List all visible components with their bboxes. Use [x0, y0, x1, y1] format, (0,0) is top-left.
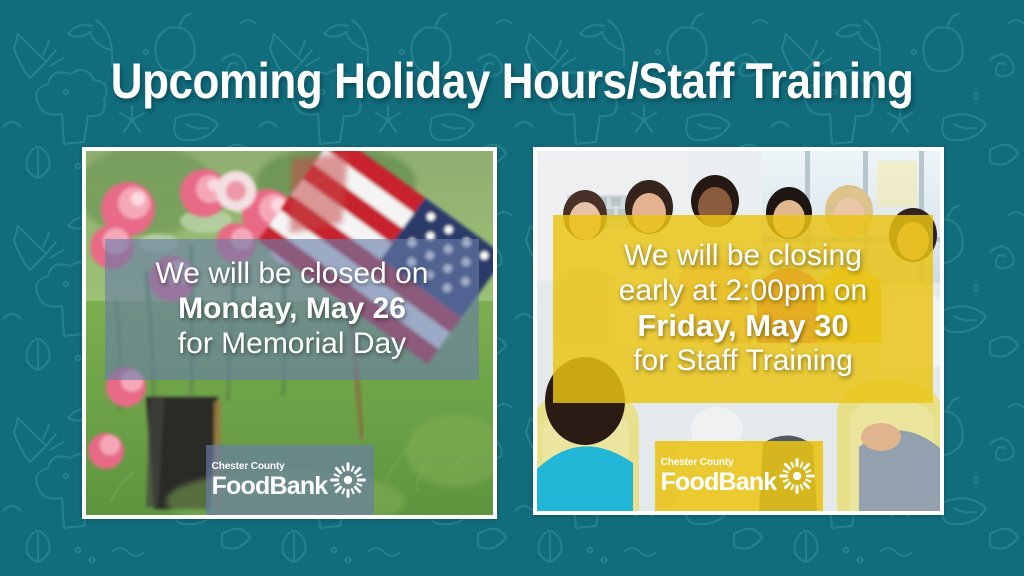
page-title: Upcoming Holiday Hours/Staff Training — [111, 52, 914, 110]
memorial-day-photo: We will be closed on Monday, May 26 for … — [86, 151, 493, 515]
page-title-container: Upcoming Holiday Hours/Staff Training — [0, 52, 1024, 110]
staff-training-photo: We will be closing early at 2:00pm on Fr… — [537, 151, 940, 511]
logo-top-text: Chester County — [661, 458, 734, 468]
utensil-sunburst-icon — [329, 461, 367, 499]
card-staff-training[interactable]: We will be closing early at 2:00pm on Fr… — [533, 147, 944, 515]
overlay-line: We will be closed on — [156, 257, 429, 292]
logo-main-text: FoodBank — [212, 474, 328, 499]
foodbank-logo-badge: Chester County FoodBank — [655, 441, 823, 511]
overlay-line: for Staff Training — [633, 344, 853, 379]
foodbank-logo-badge: Chester County FoodBank — [206, 445, 374, 515]
memorial-day-overlay-band: We will be closed on Monday, May 26 for … — [105, 239, 479, 380]
logo-top-text: Chester County — [212, 462, 285, 472]
overlay-line-date: Friday, May 30 — [637, 308, 848, 344]
utensil-sunburst-icon — [778, 457, 816, 495]
overlay-line-date: Monday, May 26 — [178, 292, 406, 327]
overlay-line: for Memorial Day — [178, 327, 406, 362]
overlay-line-time: early at 2:00pm on — [619, 274, 867, 309]
logo-main-text: FoodBank — [661, 470, 777, 495]
staff-training-overlay-band: We will be closing early at 2:00pm on Fr… — [553, 215, 933, 403]
slide-canvas: Upcoming Holiday Hours/Staff Training — [0, 0, 1024, 576]
card-memorial-day[interactable]: We will be closed on Monday, May 26 for … — [82, 147, 497, 519]
overlay-line: We will be closing — [624, 239, 862, 274]
